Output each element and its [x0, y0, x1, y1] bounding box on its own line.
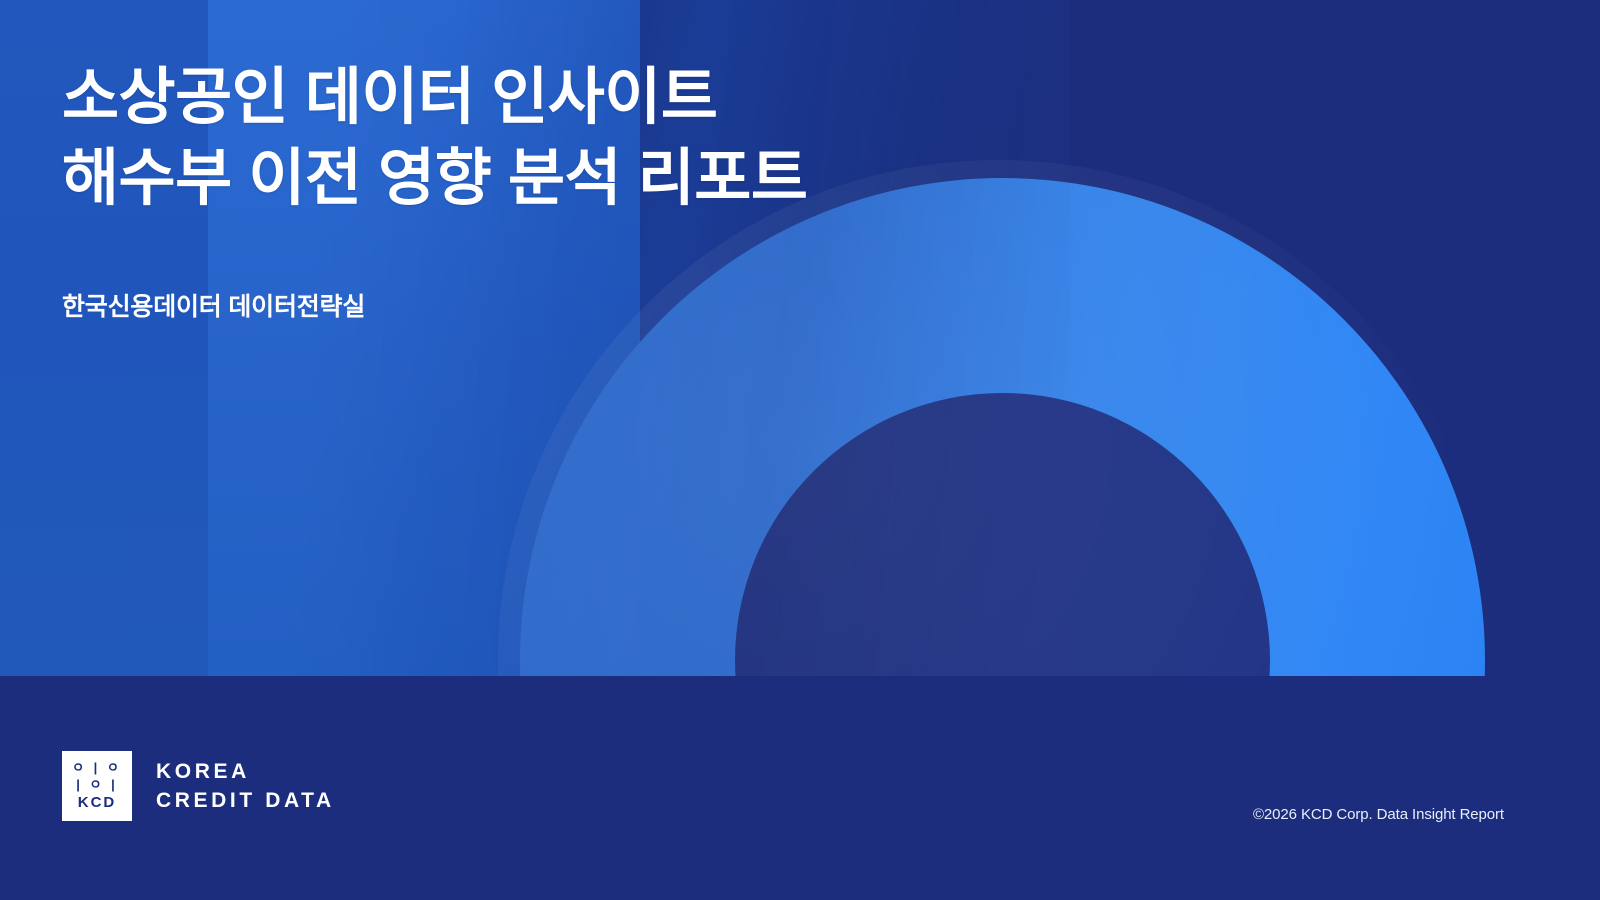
- logo-mark-row-1: ㅇ | ㅇ: [72, 761, 122, 775]
- report-cover-slide: 소상공인 데이터 인사이트 해수부 이전 영향 분석 리포트 한국신용데이터 데…: [0, 0, 1600, 900]
- logo-wordmark: KOREA CREDIT DATA: [156, 760, 335, 812]
- subtitle: 한국신용데이터 데이터전략실: [62, 287, 365, 323]
- slide-content: 소상공인 데이터 인사이트 해수부 이전 영향 분석 리포트 한국신용데이터 데…: [0, 0, 1600, 900]
- title-line-2: 해수부 이전 영향 분석 리포트: [62, 139, 1182, 220]
- kcd-logo-icon: ㅇ | ㅇ | ㅇ | KCD: [62, 751, 132, 821]
- copyright-notice: ©2026 KCD Corp. Data Insight Report: [1253, 806, 1504, 823]
- title-line-1: 소상공인 데이터 인사이트: [62, 58, 1182, 139]
- logo-mark-row-3: KCD: [78, 795, 117, 811]
- page-title: 소상공인 데이터 인사이트 해수부 이전 영향 분석 리포트: [62, 58, 1182, 219]
- logo-wordmark-line-1: KOREA: [156, 760, 335, 784]
- logo-wordmark-line-2: CREDIT DATA: [156, 789, 335, 813]
- logo-mark-row-2: | ㅇ |: [76, 778, 117, 792]
- logo-lockup: ㅇ | ㅇ | ㅇ | KCD KOREA CREDIT DATA: [62, 751, 335, 821]
